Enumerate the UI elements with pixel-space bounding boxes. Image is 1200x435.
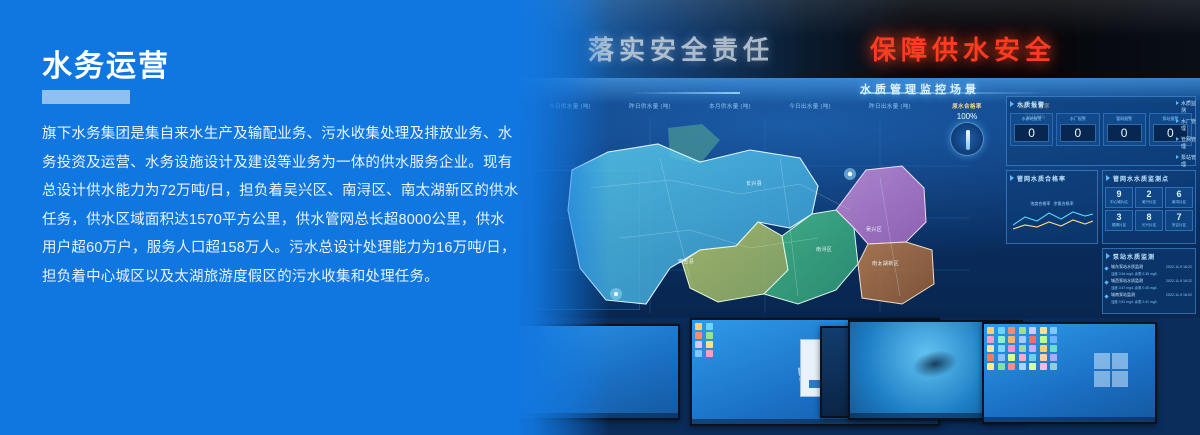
title-underline-bar [42, 90, 130, 104]
edge-menu-item[interactable]: 水厂管理 [1176, 116, 1198, 134]
map-svg [550, 118, 970, 313]
paragraph-line: 总设计供水能力为72万吨/日，担负着吴兴区、南浔区、南太湖新区的供水 [42, 177, 562, 206]
operator-desk [520, 306, 1200, 435]
log-time: 2022-11-9 18:22 [1166, 279, 1192, 283]
site-label: 德清片区 [1106, 223, 1132, 228]
water-quality-dashboard: 水质管理监控场景 今日供水量 (吨) 昨日供水量 (吨) 本月供水量 (吨) 今… [520, 78, 1200, 318]
site-cell[interactable]: 7 安吉片区 [1165, 210, 1193, 231]
map-label: 安吉县 [678, 258, 694, 265]
paragraph-line: 旗下水务集团是集自来水生产及输配业务、污水收集处理及排放业务、水 [42, 120, 562, 149]
site-label: 长兴片区 [1136, 223, 1162, 228]
site-cell[interactable]: 9 中心城片区 [1105, 187, 1133, 208]
log-name: 城南泵站监测 [1111, 292, 1135, 298]
control-room-photo: 落实安全责任 保障供水安全 水质管理监控场景 今日供水量 (吨) 昨日供水量 (… [520, 0, 1200, 435]
site-label: 吴兴片区 [1136, 200, 1162, 205]
map-label: 吴兴区 [866, 226, 882, 233]
pump-station-log-header: 泵站水质监测 [1103, 249, 1195, 263]
dashboard-edge-menu[interactable]: 水质监测 水厂管理 管网管理 泵站管理 [1176, 98, 1198, 170]
paragraph-line: 务投资及运营、水务设施设计及建设等业务为一体的供水服务企业。现有 [42, 149, 562, 178]
log-name: 城东泵站水质监测 [1111, 264, 1143, 270]
pump-station-log-panel: 泵站水质监测 城东泵站水质监测 2022-11-9 18:22 浊度 0.54 … [1102, 248, 1196, 314]
dashboard-title: 水质管理监控场景 [580, 81, 1200, 97]
regional-map[interactable]: 长兴县 安吉县 南浔区 吴兴区 南太湖新区 [550, 118, 970, 313]
log-values: 浊度 0.54 mg/L 余氯 0.35 mg/L [1111, 271, 1192, 276]
alarm-card-label: 水源地报警 [1011, 116, 1052, 122]
log-row[interactable]: 城南泵站监测 2022-11-9 18:02 浊度 0.51 mg/L 余氯 0… [1103, 291, 1195, 305]
site-count: 9 [1106, 189, 1132, 200]
site-label: 中心城片区 [1106, 200, 1132, 205]
site-count: 8 [1136, 212, 1162, 223]
paragraph-line: 任务，供水区域面积达1570平方公里，供水管网总长超8000公里，供水 [42, 206, 562, 235]
site-label: 南浔片区 [1166, 200, 1192, 205]
paragraph-line: 担负着中心城区以及太湖旅游度假区的污水收集和处理任务。 [42, 263, 562, 292]
log-name: 城西泵站水质监测 [1111, 278, 1143, 284]
swimmer-figure [909, 346, 959, 381]
legend-entry: 浊度合格率 [1030, 201, 1050, 206]
site-count: 2 [1136, 189, 1162, 200]
site-cell[interactable]: 6 南浔片区 [1165, 187, 1193, 208]
log-values: 浊度 0.51 mg/L 余氯 0.41 mg/L [1111, 299, 1192, 304]
taskbar [984, 417, 1155, 422]
alarm-card-label: 管网报警 [1104, 116, 1145, 122]
kpi-label: 今日出水量 (吨) [770, 102, 850, 110]
alarm-card-label: 水厂报警 [1057, 116, 1098, 122]
site-count: 3 [1106, 212, 1132, 223]
alarm-card-value: 0 [1107, 124, 1142, 142]
pass-rate-sparkline [1013, 207, 1093, 233]
site-cell[interactable]: 3 德清片区 [1105, 210, 1133, 231]
alarm-card-value: 0 [1060, 124, 1095, 142]
map-label: 长兴县 [746, 180, 762, 187]
edge-menu-item[interactable]: 水质监测 [1176, 98, 1198, 116]
site-count: 6 [1166, 189, 1192, 200]
monitor-right[interactable] [982, 322, 1157, 424]
log-time: 2022-11-9 18:22 [1166, 265, 1192, 269]
banner-stage: 落实安全责任 保障供水安全 水质管理监控场景 今日供水量 (吨) 昨日供水量 (… [0, 0, 1200, 435]
log-values: 浊度 0.57 mg/L 余氯 0.45 mg/L [1111, 285, 1192, 290]
log-row[interactable]: 城东泵站水质监测 2022-11-9 18:22 浊度 0.54 mg/L 余氯… [1103, 263, 1195, 277]
site-label: 安吉片区 [1166, 223, 1192, 228]
edge-menu-item[interactable]: 泵站管理 [1176, 152, 1198, 170]
monitor-right-screen [984, 324, 1155, 422]
windows-logo-icon [1094, 353, 1128, 387]
led-slogan-red: 保障供水安全 [870, 30, 1056, 67]
monitoring-site-grid: 9 中心城片区 2 吴兴片区 6 南浔片区 3 德清片区 [1103, 185, 1195, 233]
monitoring-site-header: 管网水水质监测点 [1103, 171, 1195, 185]
map-label: 南太湖新区 [872, 260, 899, 267]
legend-entry: 余氯合格率 [1054, 201, 1074, 206]
alarm-panel: 水质报警 水源地报警 0 水厂报警 0 管网报警 0 泵站报 [1006, 96, 1196, 166]
kpi-label: 昨日供水量 (吨) [610, 102, 690, 110]
kpi-label: 原水合格率 [938, 102, 996, 110]
site-count: 7 [1166, 212, 1192, 223]
site-cell[interactable]: 8 长兴片区 [1135, 210, 1163, 231]
alarm-card-value: 0 [1014, 124, 1049, 142]
alarm-panel-header: 水质报警 [1007, 97, 1195, 111]
log-time: 2022-11-9 18:02 [1166, 293, 1192, 297]
map-label: 南浔区 [816, 246, 832, 253]
edge-menu-item[interactable]: 管网管理 [1176, 134, 1198, 152]
kpi-label: 本月供水量 (吨) [690, 102, 770, 110]
alarm-card-grid: 水源地报警 0 水厂报警 0 管网报警 0 泵站报警 0 [1007, 111, 1195, 148]
led-slogan-white: 落实安全责任 [588, 30, 774, 67]
kpi-label: 昨日出水量 (吨) [850, 102, 930, 110]
desktop-icons [987, 327, 1059, 370]
site-cell[interactable]: 2 吴兴片区 [1135, 187, 1163, 208]
log-row[interactable]: 城西泵站水质监测 2022-11-9 18:22 浊度 0.57 mg/L 余氯… [1103, 277, 1195, 291]
compass-widget[interactable] [950, 122, 984, 156]
monitoring-site-panel: 管网水水质监测点 9 中心城片区 2 吴兴片区 6 南浔片区 [1102, 170, 1196, 244]
pass-rate-header: 管网水质合格率 [1007, 171, 1097, 185]
description-paragraph: 旗下水务集团是集自来水生产及输配业务、污水收集处理及排放业务、水 务投资及运营、… [42, 120, 562, 292]
paragraph-line: 用户超60万户，服务人口超158万人。污水总设计处理能力为16万吨/日， [42, 234, 562, 263]
desktop-icons [695, 323, 715, 357]
page-title: 水务运营 [42, 52, 170, 82]
alarm-card[interactable]: 水厂报警 0 [1056, 113, 1099, 146]
alarm-card[interactable]: 管网报警 0 [1103, 113, 1146, 146]
alarm-card[interactable]: 水源地报警 0 [1010, 113, 1053, 146]
pass-rate-panel: 管网水质合格率 浊度合格率 余氯合格率 [1006, 170, 1098, 244]
